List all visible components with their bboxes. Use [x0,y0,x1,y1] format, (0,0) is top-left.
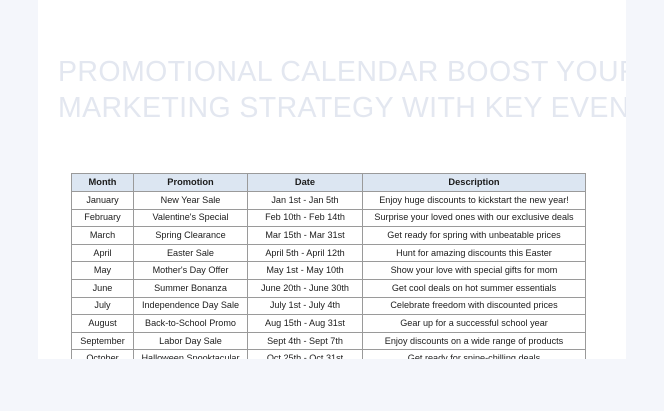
cell-month: August [72,315,134,333]
cell-description: Get cool deals on hot summer essentials [363,279,586,297]
page-title-line-1: PROMOTIONAL CALENDAR BOOST YOUR [58,54,608,90]
cell-promotion: Valentine's Special [134,209,248,227]
cell-month: April [72,244,134,262]
promotional-calendar-table-wrapper: Month Promotion Date Description January… [71,173,585,359]
table-row: AugustBack-to-School PromoAug 15th - Aug… [72,315,586,333]
cell-date: Jan 1st - Jan 5th [248,192,363,210]
cell-description: Get ready for spine-chilling deals [363,350,586,359]
cell-month: June [72,279,134,297]
cell-date: June 20th - June 30th [248,279,363,297]
table-row: FebruaryValentine's SpecialFeb 10th - Fe… [72,209,586,227]
cell-description: Gear up for a successful school year [363,315,586,333]
document-card: PROMOTIONAL CALENDAR BOOST YOUR MARKETIN… [38,0,626,359]
cell-promotion: Halloween Spooktacular [134,350,248,359]
column-header-promotion: Promotion [134,174,248,192]
cell-promotion: Easter Sale [134,244,248,262]
cell-promotion: New Year Sale [134,192,248,210]
table-row: JuneSummer BonanzaJune 20th - June 30thG… [72,279,586,297]
cell-description: Show your love with special gifts for mo… [363,262,586,280]
cell-date: Oct 25th - Oct 31st [248,350,363,359]
table-row: MarchSpring ClearanceMar 15th - Mar 31st… [72,227,586,245]
cell-description: Surprise your loved ones with our exclus… [363,209,586,227]
cell-description: Celebrate freedom with discounted prices [363,297,586,315]
cell-month: March [72,227,134,245]
cell-month: October [72,350,134,359]
table-row: MayMother's Day OfferMay 1st - May 10thS… [72,262,586,280]
cell-promotion: Labor Day Sale [134,332,248,350]
table-header-row: Month Promotion Date Description [72,174,586,192]
column-header-month: Month [72,174,134,192]
page-title-line-2: MARKETING STRATEGY WITH KEY EVENTS [58,90,608,126]
cell-description: Enjoy discounts on a wide range of produ… [363,332,586,350]
cell-description: Hunt for amazing discounts this Easter [363,244,586,262]
table-row: AprilEaster SaleApril 5th - April 12thHu… [72,244,586,262]
cell-date: Mar 15th - Mar 31st [248,227,363,245]
page-root: PROMOTIONAL CALENDAR BOOST YOUR MARKETIN… [0,0,664,411]
cell-promotion: Independence Day Sale [134,297,248,315]
column-header-description: Description [363,174,586,192]
cell-promotion: Summer Bonanza [134,279,248,297]
column-header-date: Date [248,174,363,192]
table-row: JanuaryNew Year SaleJan 1st - Jan 5thEnj… [72,192,586,210]
cell-date: May 1st - May 10th [248,262,363,280]
cell-promotion: Back-to-School Promo [134,315,248,333]
cell-date: July 1st - July 4th [248,297,363,315]
table-header: Month Promotion Date Description [72,174,586,192]
cell-date: Sept 4th - Sept 7th [248,332,363,350]
cell-month: January [72,192,134,210]
cell-month: February [72,209,134,227]
cell-month: May [72,262,134,280]
cell-month: July [72,297,134,315]
cell-date: April 5th - April 12th [248,244,363,262]
cell-month: September [72,332,134,350]
cell-date: Aug 15th - Aug 31st [248,315,363,333]
page-title: PROMOTIONAL CALENDAR BOOST YOUR MARKETIN… [58,54,608,126]
table-row: JulyIndependence Day SaleJuly 1st - July… [72,297,586,315]
cell-description: Get ready for spring with unbeatable pri… [363,227,586,245]
table-body: JanuaryNew Year SaleJan 1st - Jan 5thEnj… [72,192,586,360]
cell-description: Enjoy huge discounts to kickstart the ne… [363,192,586,210]
cell-date: Feb 10th - Feb 14th [248,209,363,227]
table-row: OctoberHalloween SpooktacularOct 25th - … [72,350,586,359]
promotional-calendar-table: Month Promotion Date Description January… [71,173,586,359]
cell-promotion: Spring Clearance [134,227,248,245]
cell-promotion: Mother's Day Offer [134,262,248,280]
table-row: SeptemberLabor Day SaleSept 4th - Sept 7… [72,332,586,350]
